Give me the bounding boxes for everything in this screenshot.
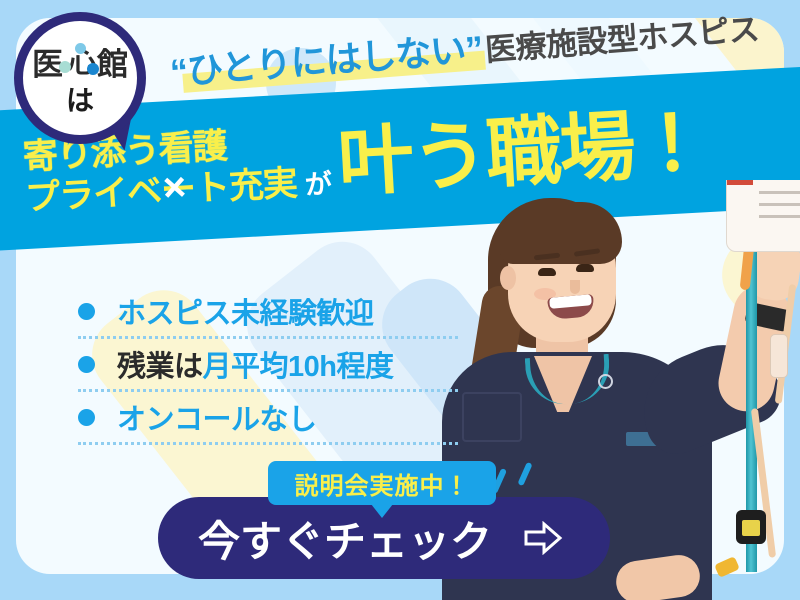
seminar-badge[interactable]: 説明会実施中！	[268, 461, 496, 505]
nurse-eye	[576, 264, 594, 272]
iv-pole-label	[742, 520, 760, 536]
check-now-button-label: 今すぐチェック	[198, 508, 492, 569]
brand-dot-icon	[87, 63, 99, 75]
benefit-text-accent: オンコールなし	[117, 404, 317, 436]
nurse-collar-snap	[598, 374, 613, 389]
iv-tube-tip	[714, 556, 740, 578]
benefits-list: ホスピス未経験歓迎 残業は月平均10h程度 オンコールなし	[78, 286, 458, 445]
nurse-nose	[570, 280, 580, 294]
brand-particle: は	[66, 87, 94, 115]
brand-dot-icon	[75, 43, 86, 54]
seminar-badge-label: 説明会実施中！	[295, 466, 470, 501]
nurse-teeth	[549, 294, 592, 309]
brand-logo-bubble: 医 心 館 は	[14, 12, 146, 144]
iv-bag-line	[759, 203, 800, 206]
benefit-text: 残業は月平均10h程度	[117, 343, 394, 385]
brand-kanji-last: 館	[97, 49, 128, 80]
benefit-text: ホスピス未経験歓迎	[117, 290, 374, 332]
list-item: ホスピス未経験歓迎	[78, 286, 458, 339]
bullet-dot-icon	[78, 409, 95, 426]
brand-dot-icon	[59, 61, 71, 73]
nurse-ear	[500, 266, 516, 290]
main-copy-particle: が	[304, 170, 332, 200]
bullet-dot-icon	[78, 356, 95, 373]
benefit-text-dark: 残業は	[117, 351, 203, 383]
cross-symbol-icon: ×	[162, 167, 188, 208]
benefit-text: オンコールなし	[117, 396, 317, 438]
brand-logo-wordmark: 医 心 館	[32, 47, 128, 81]
iv-bag-line	[759, 215, 800, 218]
iv-drip-chamber	[770, 334, 788, 378]
arrow-right-outline-icon	[524, 521, 564, 555]
benefit-text-accent: 月平均10h程度	[203, 351, 394, 383]
recruitment-banner: “ひとりにはしない” 医療施設型ホスピス 寄り添う看護 プライベート充実 が ×…	[0, 0, 800, 600]
list-item: オンコールなし	[78, 392, 458, 445]
iv-bag	[726, 180, 800, 252]
iv-bag-red-strip	[727, 180, 753, 185]
nurse-eye	[538, 268, 556, 276]
brand-shin-character: 心	[63, 47, 97, 81]
seminar-badge-tail	[371, 504, 393, 518]
nurse-fringe	[500, 202, 622, 264]
bullet-dot-icon	[78, 303, 95, 320]
iv-bag-line	[759, 191, 800, 194]
list-item: 残業は月平均10h程度	[78, 339, 458, 392]
main-copy-emphasis: 叶う職場！	[336, 105, 710, 202]
nurse-chest-pocket	[462, 392, 522, 442]
benefit-text-accent: ホスピス未経験歓迎	[117, 298, 374, 330]
